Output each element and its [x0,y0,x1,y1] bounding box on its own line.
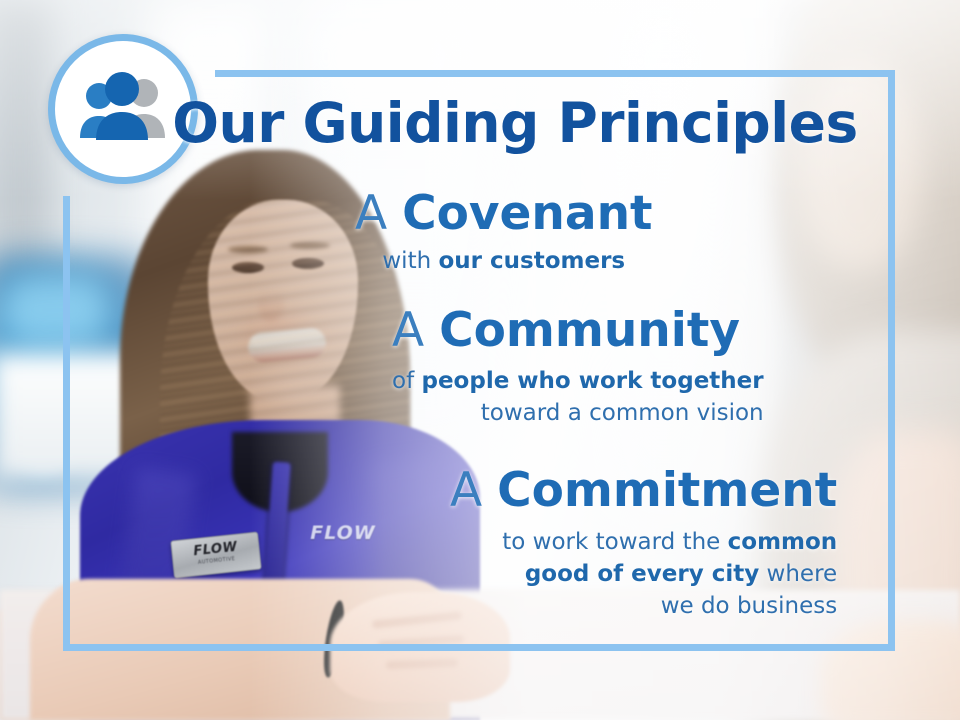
principle-covenant: A Covenant with our customers [355,186,653,277]
frame-border-top [215,70,895,77]
principle-headline: A Commitment [450,463,837,519]
subtext-line: good of every city where [450,558,837,590]
subtext-part-bold: our customers [438,248,625,274]
subtext-part-bold: people who work together [421,368,763,394]
principle-headline: A Community [392,303,764,359]
subtext-part: to work toward the [502,529,727,555]
principle-commitment: A Commitment to work toward the common g… [450,463,837,622]
subtext-part: with [382,248,438,274]
subtext-line: of people who work together [392,365,764,397]
subtext-line: toward a common vision [392,397,764,429]
principle-article: A [392,303,439,358]
frame-border-left [63,196,70,651]
principle-article: A [355,186,402,241]
guiding-principles-graphic: FLOW FLOW AUTOMOTIVE [0,0,960,720]
subtext-part-bold: good of every city [525,561,759,587]
subtext-part: of [392,368,421,394]
subtext-part-bold: common [728,529,838,555]
principle-article: A [450,463,497,518]
subtext-part: where [759,561,837,587]
subtext-line: we do business [450,590,837,622]
principle-headline: A Covenant [355,186,653,242]
principle-community: A Community of people who work together … [392,303,764,429]
principle-keyword: Commitment [497,463,837,518]
frame-border-right [888,70,895,651]
principle-keyword: Community [439,303,740,358]
principle-keyword: Covenant [402,186,652,241]
principle-subtext: of people who work together toward a com… [392,365,764,429]
principle-subtext: with our customers [355,245,653,277]
principle-subtext: to work toward the common good of every … [450,526,837,622]
frame-border-bottom [63,644,895,651]
page-title: Our Guiding Principles [0,93,960,153]
subtext-line: to work toward the common [450,526,837,558]
